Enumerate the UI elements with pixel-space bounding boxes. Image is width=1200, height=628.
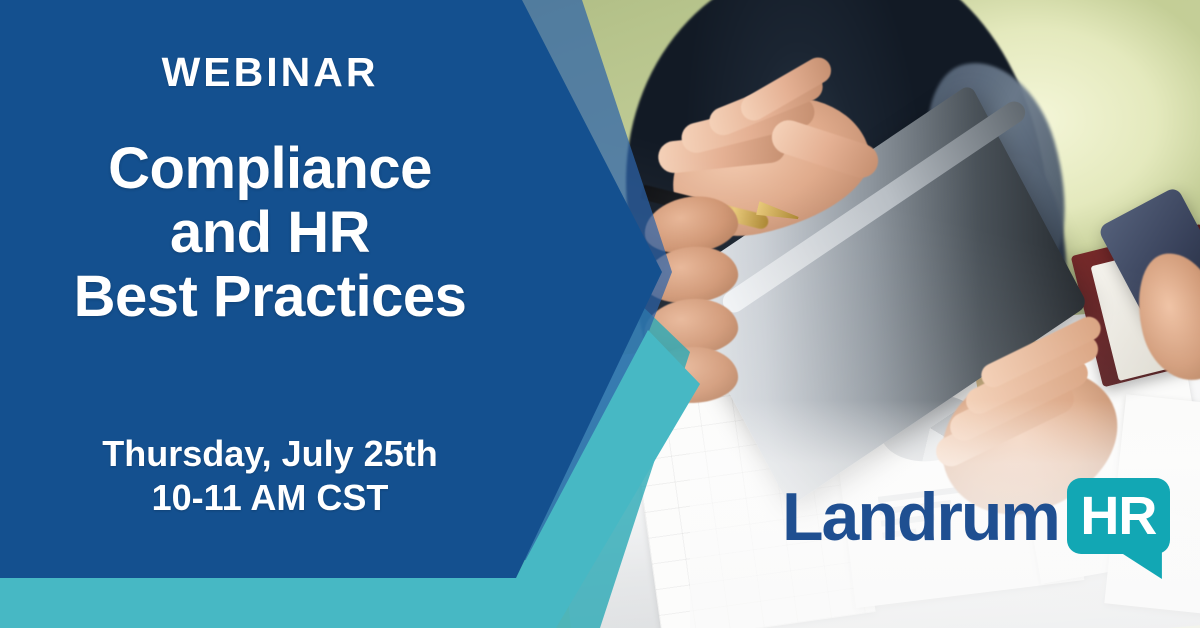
headline-line-2: and HR [30, 201, 510, 265]
kicker-label: WEBINAR [30, 52, 510, 93]
schedule-time: 10-11 AM CST [30, 476, 510, 520]
logo-badge-text: HR [1067, 478, 1170, 554]
webinar-promo-banner: WEBINAR Compliance and HR Best Practices… [0, 0, 1200, 628]
headline: Compliance and HR Best Practices [30, 137, 510, 328]
speech-bubble-icon: HR [1067, 478, 1170, 554]
headline-line-3: Best Practices [30, 265, 510, 329]
schedule-date: Thursday, July 25th [30, 432, 510, 476]
logo-wordmark: Landrum [782, 478, 1059, 556]
banner-text-block: WEBINAR Compliance and HR Best Practices… [0, 0, 540, 578]
landrumhr-logo[interactable]: Landrum HR [782, 478, 1170, 556]
headline-line-1: Compliance [30, 137, 510, 201]
schedule: Thursday, July 25th 10-11 AM CST [30, 432, 510, 520]
